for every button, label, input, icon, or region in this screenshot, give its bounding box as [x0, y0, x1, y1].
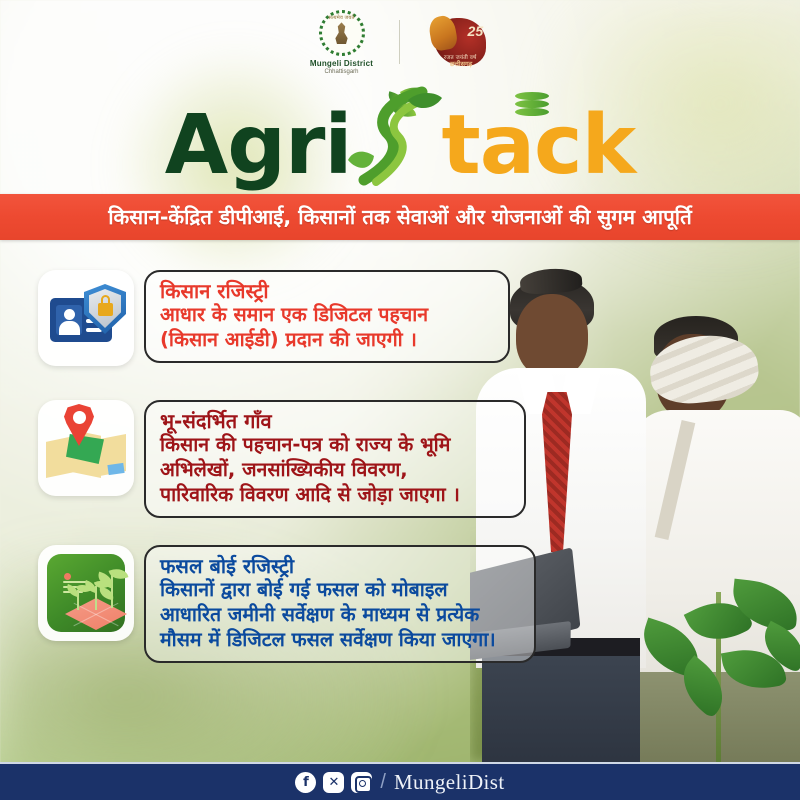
brand-tack-text: tack	[442, 107, 636, 186]
card-body: आधार के समान एक डिजिटल पहचान (किसान आईडी…	[160, 303, 494, 353]
district-name: Mungeli District	[310, 59, 373, 68]
survey-marker-dot	[64, 573, 71, 580]
id-card-shield-lock-icon	[38, 270, 134, 366]
map-water-area	[107, 463, 124, 475]
lock-body	[98, 303, 113, 316]
social-handle[interactable]: MungeliDist	[394, 770, 505, 795]
card-text-bubble: किसान रजिस्ट्री आधार के समान एक डिजिटल प…	[144, 270, 510, 363]
crop-icon-tile	[47, 554, 125, 632]
card-text-bubble: फसल बोई रजिस्ट्री किसानों द्वारा बोई गई …	[144, 545, 536, 663]
crop-field-survey-icon	[38, 545, 134, 641]
jubilee-number: 25	[468, 23, 484, 39]
brand-agri-text: Agri	[165, 107, 352, 186]
card-title: भू-संदर्भित गाँव	[160, 409, 510, 433]
footer-slash: /	[380, 771, 386, 794]
cotton-plant	[620, 542, 800, 762]
infographic-poster: सत्यमेव जयते Mungeli District Chhattisga…	[0, 0, 800, 800]
header-logos: सत्यमेव जयते Mungeli District Chhattisga…	[0, 6, 800, 78]
card-body: किसानों द्वारा बोई गई फसल को मोबाइल आधार…	[160, 578, 520, 653]
tagline-text: किसान-केंद्रित डीपीआई, किसानों तक सेवाओं…	[108, 203, 692, 231]
mungeli-district-logo: सत्यमेव जयते Mungeli District Chhattisga…	[310, 10, 373, 75]
national-emblem-icon: सत्यमेव जयते	[319, 10, 365, 56]
chhattisgarh-silver-jubilee-logo: 25 रजत जयंती वर्ष छत्तीसगढ़	[426, 14, 490, 70]
logo-divider	[399, 20, 400, 64]
id-person-head	[64, 309, 75, 320]
state-name: Chhattisgarh	[324, 69, 358, 75]
facebook-icon[interactable]: f	[295, 772, 316, 793]
location-pin-hole	[73, 411, 86, 424]
card-text-bubble: भू-संदर्भित गाँव किसान की पहचान-पत्र को …	[144, 400, 526, 518]
emblem-motto: सत्यमेव जयते	[328, 15, 354, 21]
feature-card-geo-referenced-village: भू-संदर्भित गाँव किसान की पहचान-पत्र को …	[38, 400, 526, 518]
officer-head	[516, 294, 588, 378]
card-title: फसल बोई रजिस्ट्री	[160, 554, 520, 578]
x-twitter-icon[interactable]: ✕	[323, 772, 344, 793]
officer-trousers	[482, 656, 640, 762]
brand-s-leaf-letter	[352, 86, 448, 186]
id-person-torso	[59, 321, 80, 335]
crop-sprout	[69, 584, 87, 610]
crop-sprout-large	[99, 568, 125, 608]
map-location-pin-icon	[38, 400, 134, 496]
social-footer: f ✕ / MungeliDist	[0, 762, 800, 800]
jubilee-line2: छत्तीसगढ़	[438, 59, 484, 68]
feature-card-crop-sown-registry: फसल बोई रजिस्ट्री किसानों द्वारा बोई गई …	[38, 545, 536, 663]
stack-layers-icon	[515, 92, 549, 118]
card-body: किसान की पहचान-पत्र को राज्य के भूमि अभि…	[160, 433, 510, 508]
agristack-wordmark: Agri tack	[0, 84, 800, 188]
tagline-banner: किसान-केंद्रित डीपीआई, किसानों तक सेवाओं…	[0, 194, 800, 240]
feature-card-kisan-registry: किसान रजिस्ट्री आधार के समान एक डिजिटल प…	[38, 270, 510, 366]
card-title: किसान रजिस्ट्री	[160, 279, 494, 303]
instagram-icon[interactable]	[351, 772, 372, 793]
